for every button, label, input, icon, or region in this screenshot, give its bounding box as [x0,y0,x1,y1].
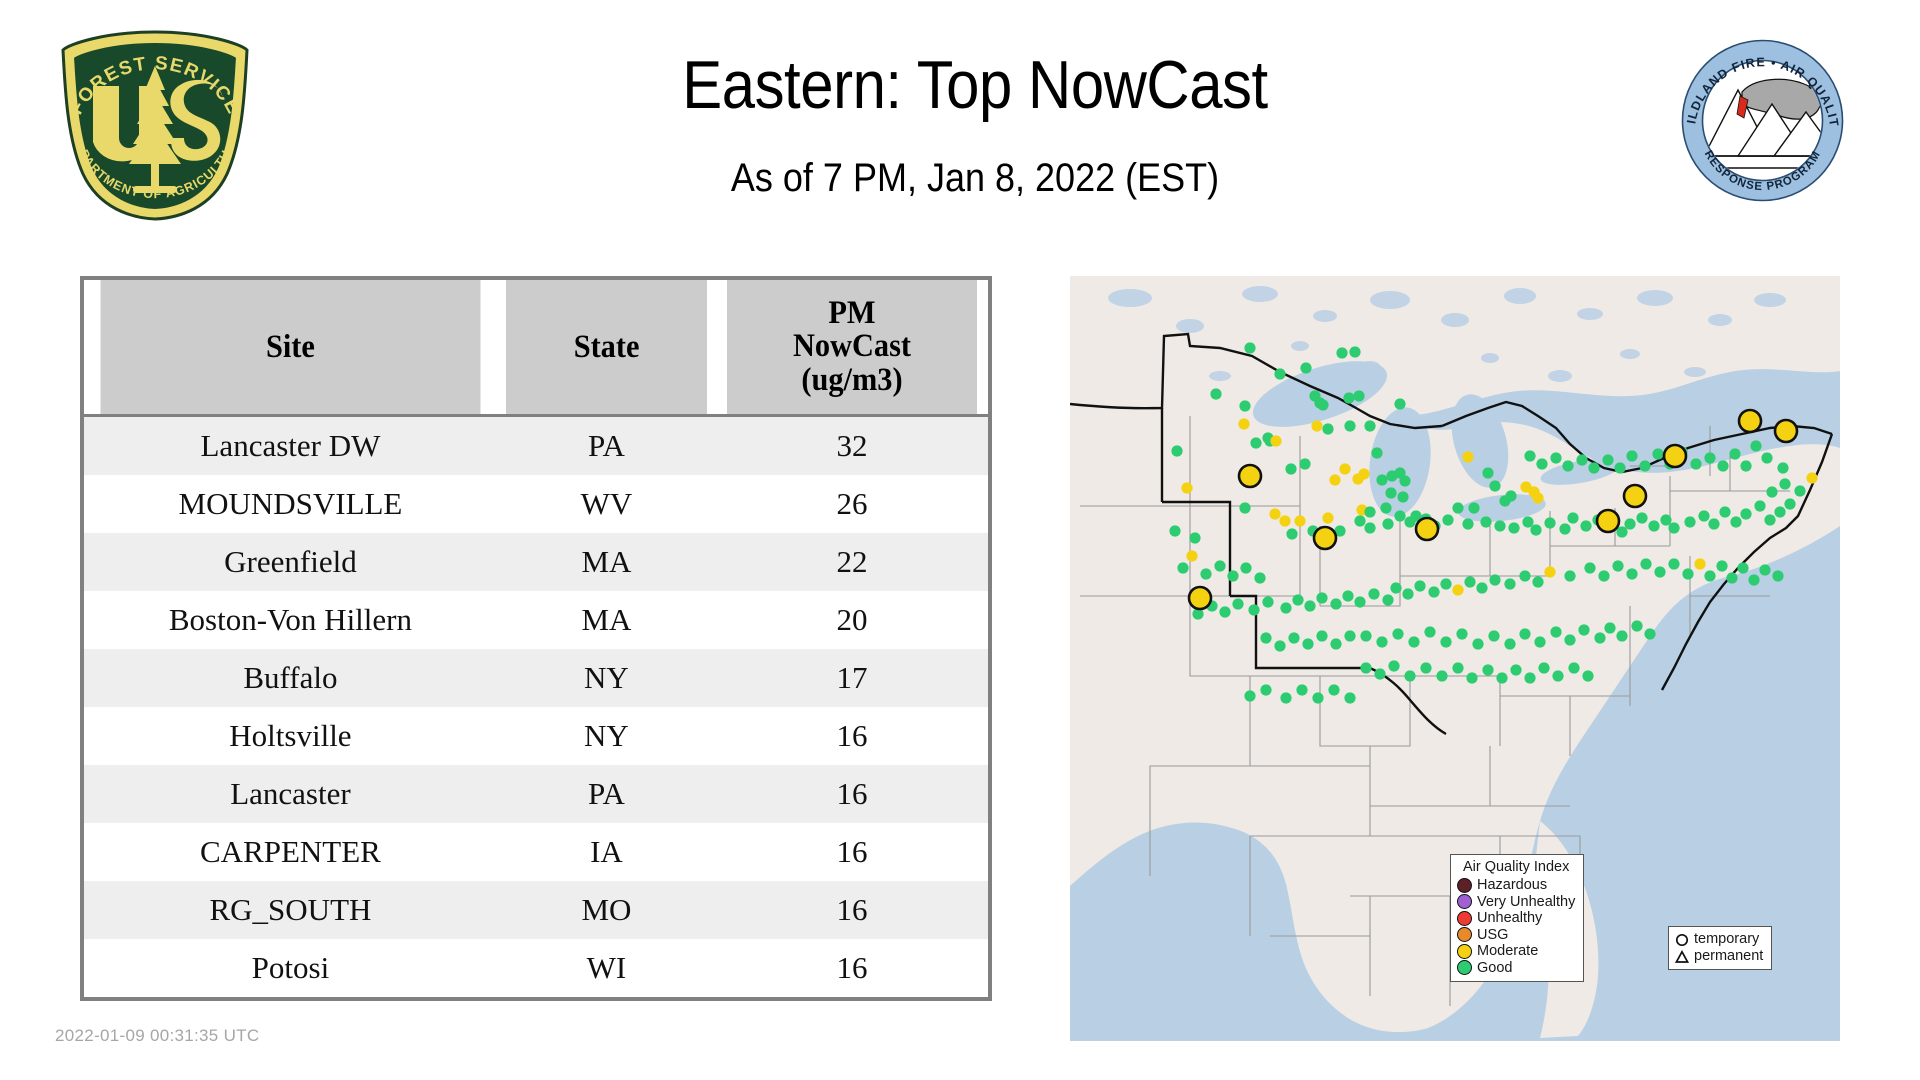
top-monitor-marker[interactable] [1624,485,1646,507]
monitor-dot[interactable] [1494,520,1505,531]
monitor-dot[interactable] [1519,570,1530,581]
monitor-dot[interactable] [1532,492,1543,503]
monitor-dot[interactable] [1358,468,1369,479]
monitor-dot[interactable] [1200,568,1211,579]
monitor-dot[interactable] [1394,510,1405,521]
monitor-dot[interactable] [1424,626,1435,637]
monitor-dot[interactable] [1704,570,1715,581]
monitor-dot[interactable] [1582,670,1593,681]
monitor-dot[interactable] [1189,532,1200,543]
aqi-color-swatch-icon [1457,878,1472,893]
monitor-dot[interactable] [1270,435,1281,446]
state-cell: WV [497,475,716,533]
aqi-legend-label: Unhealthy [1477,910,1542,927]
monitor-dot[interactable] [1210,388,1221,399]
column-header-pm-nowcast[interactable]: PM NowCast (ug/m3) [727,280,977,416]
monitor-dot[interactable] [1311,420,1322,431]
monitor-dot[interactable] [1544,566,1555,577]
monitor-dot[interactable] [1480,516,1491,527]
aqi-color-swatch-icon [1457,960,1472,975]
monitor-dot[interactable] [1578,624,1589,635]
monitor-dot[interactable] [1616,630,1627,641]
monitor-dot[interactable] [1704,452,1715,463]
top-monitor-marker[interactable] [1189,587,1211,609]
monitor-dot[interactable] [1564,634,1575,645]
monitor-dot[interactable] [1360,630,1371,641]
monitor-dot[interactable] [1440,578,1451,589]
state-cell: MA [497,591,716,649]
monitor-dot[interactable] [1420,662,1431,673]
pm-nowcast-cell: 16 [716,881,988,939]
site-type-permanent-label: permanent [1694,948,1763,965]
site-type-temporary-row: temporary [1675,931,1763,948]
monitor-dot[interactable] [1614,462,1625,473]
monitor-dot[interactable] [1349,346,1360,357]
pm-nowcast-cell: 26 [716,475,988,533]
monitor-dot[interactable] [1530,524,1541,535]
monitor-dot[interactable] [1344,630,1355,641]
monitor-dot[interactable] [1740,508,1751,519]
monitor-dot[interactable] [1468,502,1479,513]
monitor-dot[interactable] [1330,598,1341,609]
monitor-dot[interactable] [1285,463,1296,474]
monitor-dot[interactable] [1562,460,1573,471]
monitor-dot[interactable] [1312,692,1323,703]
monitor-dot[interactable] [1588,462,1599,473]
table-row[interactable]: GreenfieldMA22 [84,533,988,591]
permanent-site-triangle-icon [1675,950,1689,964]
monitor-dot[interactable] [1344,692,1355,703]
monitor-dot[interactable] [1177,562,1188,573]
monitor-dot[interactable] [1510,664,1521,675]
monitor-dot[interactable] [1538,662,1549,673]
monitor-dot[interactable] [1274,368,1285,379]
monitor-dot[interactable] [1631,620,1642,631]
state-cell: NY [497,707,716,765]
monitor-dot[interactable] [1476,582,1487,593]
table-header: Site State PM NowCast (ug/m3) [84,280,988,416]
monitor-dot[interactable] [1794,485,1805,496]
monitor-dot[interactable] [1399,475,1410,486]
monitor-dot[interactable] [1750,440,1761,451]
site-type-legend: temporary permanent [1668,926,1772,970]
monitor-dot[interactable] [1456,628,1467,639]
monitor-dot[interactable] [1280,602,1291,613]
monitor-dot[interactable] [1639,460,1650,471]
monitor-dot[interactable] [1684,516,1695,527]
pm-nowcast-cell: 22 [716,533,988,591]
monitor-dot[interactable] [1376,474,1387,485]
monitor-dot[interactable] [1452,584,1463,595]
monitor-dot[interactable] [1616,526,1627,537]
wildland-fire-air-quality-seal-icon: WILDLAND FIRE • AIR QUALITY RESPONSE PRO… [1680,38,1845,203]
state-cell: PA [497,765,716,823]
monitor-dot[interactable] [1280,692,1291,703]
page-subtitle: As of 7 PM, Jan 8, 2022 (EST) [395,154,1556,202]
monitor-dot[interactable] [1302,638,1313,649]
monitor-dot[interactable] [1772,570,1783,581]
monitor-dot[interactable] [1777,462,1788,473]
monitor-dot[interactable] [1368,588,1379,599]
aqi-legend-title: Air Quality Index [1457,859,1575,875]
monitor-dot[interactable] [1316,592,1327,603]
monitor-dot[interactable] [1522,516,1533,527]
aqi-legend-item: Moderate [1457,943,1575,960]
monitor-dot[interactable] [1779,478,1790,489]
monitor-dot[interactable] [1382,518,1393,529]
monitor-dot[interactable] [1299,458,1310,469]
monitor-dot[interactable] [1342,590,1353,601]
site-cell: Buffalo [84,649,497,707]
air-quality-map[interactable]: Air Quality Index HazardousVery Unhealth… [1070,276,1840,1041]
monitor-dot[interactable] [1322,512,1333,523]
monitor-dot[interactable] [1296,684,1307,695]
monitor-dot[interactable] [1690,458,1701,469]
monitor-dot[interactable] [1489,574,1500,585]
aqi-legend-item: Good [1457,960,1575,977]
table-row[interactable]: Lancaster DWPA32 [84,416,988,476]
aqi-legend-label: Good [1477,960,1512,977]
site-cell: Greenfield [84,533,497,591]
monitor-dot[interactable] [1260,632,1271,643]
aqi-legend-item: USG [1457,927,1575,944]
monitor-dot[interactable] [1388,660,1399,671]
monitor-dot[interactable] [1550,452,1561,463]
aqi-legend-label: Hazardous [1477,877,1547,894]
table-row[interactable]: CARPENTERIA16 [84,823,988,881]
monitor-dot[interactable] [1390,582,1401,593]
monitor-dot[interactable] [1292,594,1303,605]
monitor-dot[interactable] [1716,560,1727,571]
monitor-dot[interactable] [1169,525,1180,536]
monitor-dot[interactable] [1181,482,1192,493]
monitor-dot[interactable] [1397,491,1408,502]
monitor-dot[interactable] [1317,399,1328,410]
site-cell: Lancaster [84,765,497,823]
monitor-dot[interactable] [1238,418,1249,429]
monitor-dot[interactable] [1250,437,1261,448]
table-row[interactable]: PotosiWI16 [84,939,988,997]
monitor-dot[interactable] [1304,600,1315,611]
aqi-legend-item: Very Unhealthy [1457,894,1575,911]
column-header-line-3: (ug/m3) [731,364,974,398]
monitor-dot[interactable] [1626,568,1637,579]
column-header-line-1: PM [731,297,974,331]
pm-nowcast-cell: 16 [716,939,988,997]
monitor-dot[interactable] [1353,390,1364,401]
table-row[interactable]: BuffaloNY17 [84,649,988,707]
monitor-dot[interactable] [1452,502,1463,513]
top-monitor-marker[interactable] [1239,465,1261,487]
table-row[interactable]: Boston-Von HillernMA20 [84,591,988,649]
monitor-dot[interactable] [1219,606,1230,617]
monitor-dot[interactable] [1708,518,1719,529]
monitor-dot[interactable] [1784,498,1795,509]
monitor-dot[interactable] [1344,420,1355,431]
monitor-dot[interactable] [1240,562,1251,573]
monitor-dot[interactable] [1227,570,1238,581]
monitor-dot[interactable] [1328,684,1339,695]
aqi-color-swatch-icon [1457,927,1472,942]
monitor-dot[interactable] [1682,568,1693,579]
monitor-dot[interactable] [1544,517,1555,528]
monitor-dot[interactable] [1774,506,1785,517]
monitor-dot[interactable] [1761,452,1772,463]
monitor-dot[interactable] [1740,460,1751,471]
pm-nowcast-cell: 32 [716,416,988,476]
aqi-color-swatch-icon [1457,894,1472,909]
monitor-dot[interactable] [1385,487,1396,498]
monitor-dot[interactable] [1504,578,1515,589]
top-monitor-marker[interactable] [1739,410,1761,432]
monitor-dot[interactable] [1717,460,1728,471]
monitor-dot[interactable] [1239,502,1250,513]
monitor-dot[interactable] [1594,632,1605,643]
generation-timestamp: 2022-01-09 00:31:35 UTC [55,1026,259,1046]
state-cell: IA [497,823,716,881]
monitor-dot[interactable] [1402,588,1413,599]
column-header-site[interactable]: Site [101,280,481,416]
nowcast-table: Site State PM NowCast (ug/m3) Lancaster … [84,280,988,997]
monitor-dot[interactable] [1602,454,1613,465]
monitor-dot[interactable] [1550,626,1561,637]
table-body: Lancaster DWPA32MOUNDSVILLEWV26Greenfiel… [84,416,988,998]
monitor-dot[interactable] [1759,564,1770,575]
monitor-dot[interactable] [1764,514,1775,525]
monitor-dot[interactable] [1488,630,1499,641]
monitor-dot[interactable] [1464,576,1475,587]
state-cell: WI [497,939,716,997]
top-monitor-marker[interactable] [1314,527,1336,549]
aqi-legend-label: Moderate [1477,943,1538,960]
monitor-dot[interactable] [1584,562,1595,573]
monitor-dot[interactable] [1171,445,1182,456]
monitor-dot[interactable] [1380,502,1391,513]
usda-forest-service-shield-icon: FOREST SERVICE DEPARTMENT OF AGRICULTURE [55,28,255,223]
site-cell: Potosi [84,939,497,997]
temporary-site-circle-icon [1675,933,1689,947]
aqi-legend-label: USG [1477,927,1508,944]
aqi-color-swatch-icon [1457,944,1472,959]
top-monitor-marker[interactable] [1416,518,1438,540]
page-title: Eastern: Top NowCast [407,48,1542,122]
monitor-dot[interactable] [1482,664,1493,675]
monitor-dot[interactable] [1648,520,1659,531]
monitor-dot[interactable] [1698,510,1709,521]
monitor-dot[interactable] [1330,638,1341,649]
monitor-dot[interactable] [1371,447,1382,458]
monitor-dot[interactable] [1442,514,1453,525]
monitor-dot[interactable] [1559,523,1570,534]
monitor-dot[interactable] [1374,668,1385,679]
monitor-dot[interactable] [1644,628,1655,639]
monitor-dot[interactable] [1524,450,1535,461]
monitor-dot[interactable] [1300,362,1311,373]
monitor-dot[interactable] [1462,451,1473,462]
monitor-dot[interactable] [1719,506,1730,517]
monitor-dot[interactable] [1524,672,1535,683]
monitor-dot[interactable] [1730,516,1741,527]
monitor-dot[interactable] [1394,398,1405,409]
site-cell: MOUNDSVILLE [84,475,497,533]
monitor-dot[interactable] [1499,495,1510,506]
monitor-dot[interactable] [1232,598,1243,609]
site-cell: Lancaster DW [84,416,497,476]
monitor-dot[interactable] [1404,670,1415,681]
monitor-dot[interactable] [1626,450,1637,461]
site-cell: Boston-Von Hillern [84,591,497,649]
monitor-dot[interactable] [1244,342,1255,353]
monitor-dot[interactable] [1496,672,1507,683]
monitor-dot[interactable] [1568,662,1579,673]
aqi-legend-item: Hazardous [1457,877,1575,894]
monitor-dot[interactable] [1482,467,1493,478]
pm-nowcast-cell: 20 [716,591,988,649]
monitor-dot[interactable] [1360,662,1371,673]
table-row[interactable]: LancasterPA16 [84,765,988,823]
monitor-dot[interactable] [1364,506,1375,517]
monitor-dot[interactable] [1316,630,1327,641]
monitor-dot[interactable] [1239,400,1250,411]
state-cell: NY [497,649,716,707]
page-header: FOREST SERVICE DEPARTMENT OF AGRICULTURE… [0,0,1920,260]
pm-nowcast-cell: 16 [716,823,988,881]
table-row[interactable]: HoltsvilleNY16 [84,707,988,765]
title-block: Eastern: Top NowCast As of 7 PM, Jan 8, … [330,48,1620,202]
site-type-permanent-row: permanent [1675,948,1763,965]
monitor-dot[interactable] [1754,500,1765,511]
pm-nowcast-cell: 16 [716,765,988,823]
top-monitor-marker[interactable] [1664,445,1686,467]
monitor-dot[interactable] [1504,638,1515,649]
monitor-dot[interactable] [1294,515,1305,526]
monitor-dot[interactable] [1472,638,1483,649]
monitor-dot[interactable] [1286,528,1297,539]
monitor-dot[interactable] [1580,520,1591,531]
column-header-state[interactable]: State [506,280,708,416]
monitor-dot[interactable] [1519,628,1530,639]
monitor-dot[interactable] [1489,480,1500,491]
aqi-legend-label: Very Unhealthy [1477,894,1575,911]
site-cell: RG_SOUTH [84,881,497,939]
monitor-dot[interactable] [1408,636,1419,647]
aqi-legend: Air Quality Index HazardousVery Unhealth… [1450,854,1584,982]
monitor-dot[interactable] [1748,574,1759,585]
state-cell: PA [497,416,716,476]
nowcast-table-container: Site State PM NowCast (ug/m3) Lancaster … [80,276,992,1001]
monitor-dot[interactable] [1636,512,1647,523]
monitor-dot[interactable] [1364,420,1375,431]
monitor-dot[interactable] [1462,518,1473,529]
pm-nowcast-cell: 17 [716,649,988,707]
monitor-dot[interactable] [1436,670,1447,681]
monitor-dot[interactable] [1336,347,1347,358]
monitor-dot[interactable] [1428,586,1439,597]
monitor-dot[interactable] [1532,576,1543,587]
monitor-dot[interactable] [1737,562,1748,573]
monitor-dot[interactable] [1440,636,1451,647]
monitor-dot[interactable] [1354,596,1365,607]
monitor-dot[interactable] [1726,572,1737,583]
top-monitor-marker[interactable] [1775,420,1797,442]
table-row[interactable]: MOUNDSVILLEWV26 [84,475,988,533]
monitor-dot[interactable] [1376,636,1387,647]
monitor-dot[interactable] [1244,690,1255,701]
site-type-temporary-label: temporary [1694,931,1759,948]
monitor-dot[interactable] [1534,636,1545,647]
monitor-dot[interactable] [1329,474,1340,485]
aqi-legend-list: HazardousVery UnhealthyUnhealthyUSGModer… [1457,877,1575,976]
monitor-dot[interactable] [1668,558,1679,569]
site-cell: CARPENTER [84,823,497,881]
monitor-dot[interactable] [1567,512,1578,523]
monitor-dot[interactable] [1186,550,1197,561]
monitor-dot[interactable] [1269,508,1280,519]
monitor-dot[interactable] [1536,458,1547,469]
monitor-dot[interactable] [1729,448,1740,459]
monitor-dot[interactable] [1552,670,1563,681]
monitor-dot[interactable] [1694,558,1705,569]
column-header-line-2: NowCast [731,330,974,364]
monitor-dot[interactable] [1414,580,1425,591]
monitor-dot[interactable] [1508,522,1519,533]
table-row[interactable]: RG_SOUTHMO16 [84,881,988,939]
monitor-dot[interactable] [1260,684,1271,695]
monitor-dot[interactable] [1806,472,1817,483]
monitor-dot[interactable] [1668,522,1679,533]
state-cell: MA [497,533,716,591]
top-monitor-marker[interactable] [1597,510,1619,532]
monitor-dot[interactable] [1262,596,1273,607]
monitor-dot[interactable] [1660,514,1671,525]
table-header-row: Site State PM NowCast (ug/m3) [84,280,988,416]
monitor-dot[interactable] [1564,570,1575,581]
monitor-dot[interactable] [1466,672,1477,683]
monitor-dot[interactable] [1576,454,1587,465]
monitor-dot[interactable] [1364,522,1375,533]
monitor-dot[interactable] [1624,518,1635,529]
monitor-dot[interactable] [1322,423,1333,434]
monitor-dot[interactable] [1392,628,1403,639]
monitor-dot[interactable] [1288,632,1299,643]
monitor-dot[interactable] [1279,515,1290,526]
monitor-dot[interactable] [1598,570,1609,581]
pm-nowcast-cell: 16 [716,707,988,765]
monitor-dot[interactable] [1354,515,1365,526]
state-cell: MO [497,881,716,939]
monitor-dot[interactable] [1766,486,1777,497]
site-cell: Holtsville [84,707,497,765]
monitor-dot[interactable] [1452,662,1463,673]
monitor-dot[interactable] [1339,463,1350,474]
monitor-dot[interactable] [1254,572,1265,583]
monitor-dot[interactable] [1343,392,1354,403]
monitor-dot[interactable] [1214,560,1225,571]
monitor-dot[interactable] [1612,560,1623,571]
aqi-legend-item: Unhealthy [1457,910,1575,927]
monitor-dot[interactable] [1654,566,1665,577]
monitor-dot[interactable] [1274,640,1285,651]
aqi-color-swatch-icon [1457,911,1472,926]
monitor-dot[interactable] [1604,622,1615,633]
monitor-dot[interactable] [1382,594,1393,605]
monitor-dot[interactable] [1640,558,1651,569]
monitor-dot[interactable] [1248,604,1259,615]
monitor-dot[interactable] [1652,448,1663,459]
